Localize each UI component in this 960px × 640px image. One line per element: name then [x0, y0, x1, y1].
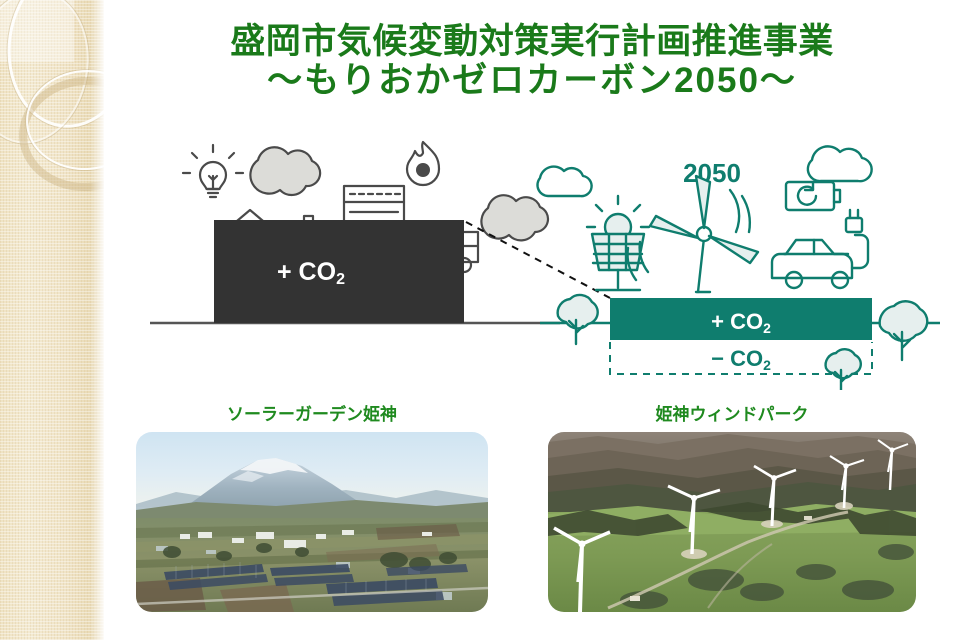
lightbulb-icon: [183, 145, 243, 197]
tree-icon: [826, 349, 861, 390]
photo-caption-right: 姫神ウィンドパーク: [548, 400, 916, 425]
solar-garden-himekami-photo: [136, 432, 488, 612]
carbon-neutral-infographic: .ln{fill:none;stroke:#4a4a4a;stroke-widt…: [140, 130, 950, 390]
page-title: 盛岡市気候変動対策実行計画推進事業 ～もりおかゼロカーボン2050～: [104, 22, 960, 100]
photo-caption-left: ソーラーガーデン姫神: [136, 400, 488, 425]
title-line-2: ～もりおかゼロカーボン2050～: [104, 61, 960, 100]
slide-root: 盛岡市気候変動対策実行計画推進事業 ～もりおかゼロカーボン2050～ .ln{f…: [0, 0, 960, 640]
future-co2-label: + CO2: [711, 309, 771, 336]
cloud-icon: [537, 167, 591, 197]
decorative-sidebar: [0, 0, 104, 640]
offset-co2-label: − CO2: [711, 346, 771, 373]
smoke-cloud-icon: [250, 147, 320, 195]
sidebar-edge-fade: [90, 0, 104, 640]
current-co2-label: + CO2: [277, 258, 345, 288]
wind-turbine-icon: [628, 176, 758, 292]
smoke-cloud-icon: [481, 195, 548, 240]
battery-recycle-icon: [786, 182, 840, 210]
tree-icon: [880, 301, 928, 360]
electric-car-icon: [772, 210, 868, 288]
flame-icon: [407, 142, 439, 185]
year-2050-label: 2050: [683, 158, 741, 188]
himekami-wind-park-photo: [548, 432, 916, 612]
cloud-icon: [808, 146, 872, 181]
title-line-1: 盛岡市気候変動対策実行計画推進事業: [104, 22, 960, 61]
tree-icon: [558, 295, 598, 344]
